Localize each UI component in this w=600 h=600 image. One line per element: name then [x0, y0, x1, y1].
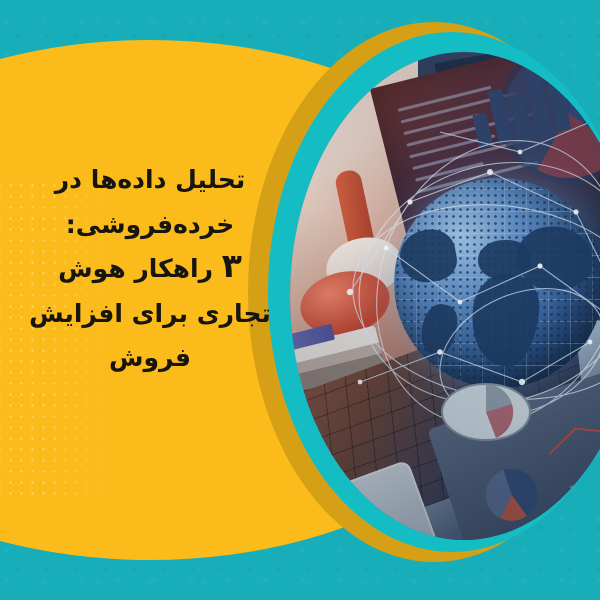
illustration-circle	[290, 52, 600, 540]
headline-line-4: تجاری برای افزایش	[18, 292, 282, 337]
headline-line-2: خرده‌فروشی:	[18, 203, 282, 248]
headline: تحلیل داده‌ها در خرده‌فروشی: ۳ راهکار هو…	[18, 158, 282, 381]
headline-line-5: فروش	[18, 336, 282, 381]
headline-line-3: ۳ راهکار هوش	[18, 247, 282, 292]
photo-color-tint	[290, 52, 600, 540]
headline-emphasis-number: ۳	[222, 246, 242, 285]
illustration-scene	[290, 52, 600, 540]
headline-line-1: تحلیل داده‌ها در	[18, 158, 282, 203]
promo-banner: تحلیل داده‌ها در خرده‌فروشی: ۳ راهکار هو…	[0, 0, 600, 600]
